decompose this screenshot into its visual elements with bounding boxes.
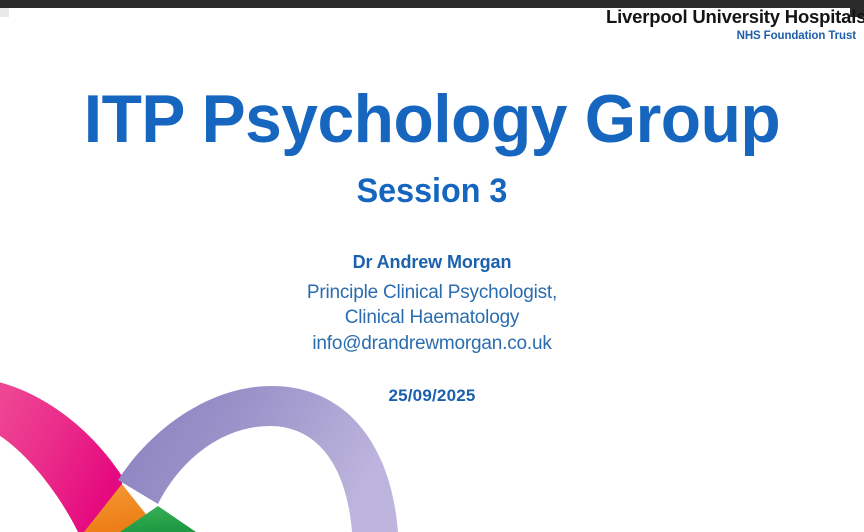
ribbon-purple xyxy=(118,386,398,532)
date-block: 25/09/2025 xyxy=(0,386,864,406)
slide-date: 25/09/2025 xyxy=(388,386,475,405)
presenter-role-line-1: Principle Clinical Psychologist, xyxy=(0,280,864,306)
slide-subtitle: Session 3 xyxy=(22,173,843,210)
slide-title: ITP Psychology Group xyxy=(13,84,851,155)
presenter-block: Dr Andrew Morgan Principle Clinical Psyc… xyxy=(0,252,864,357)
trust-logo: Liverpool University Hospitals NHS Found… xyxy=(606,8,856,42)
presenter-role-line-2: Clinical Haematology xyxy=(0,305,864,331)
presenter-name: Dr Andrew Morgan xyxy=(0,252,864,274)
presentation-slide: Liverpool University Hospitals NHS Found… xyxy=(0,0,864,532)
window-left-nub xyxy=(0,8,9,17)
presenter-email: info@drandrewmorgan.co.uk xyxy=(0,331,864,357)
headline-block: ITP Psychology Group Session 3 xyxy=(0,84,864,211)
ribbon-green xyxy=(120,506,196,532)
ribbon-orange xyxy=(84,484,160,532)
trust-subtitle: NHS Foundation Trust xyxy=(606,31,856,43)
trust-name: Liverpool University Hospitals xyxy=(606,8,856,27)
